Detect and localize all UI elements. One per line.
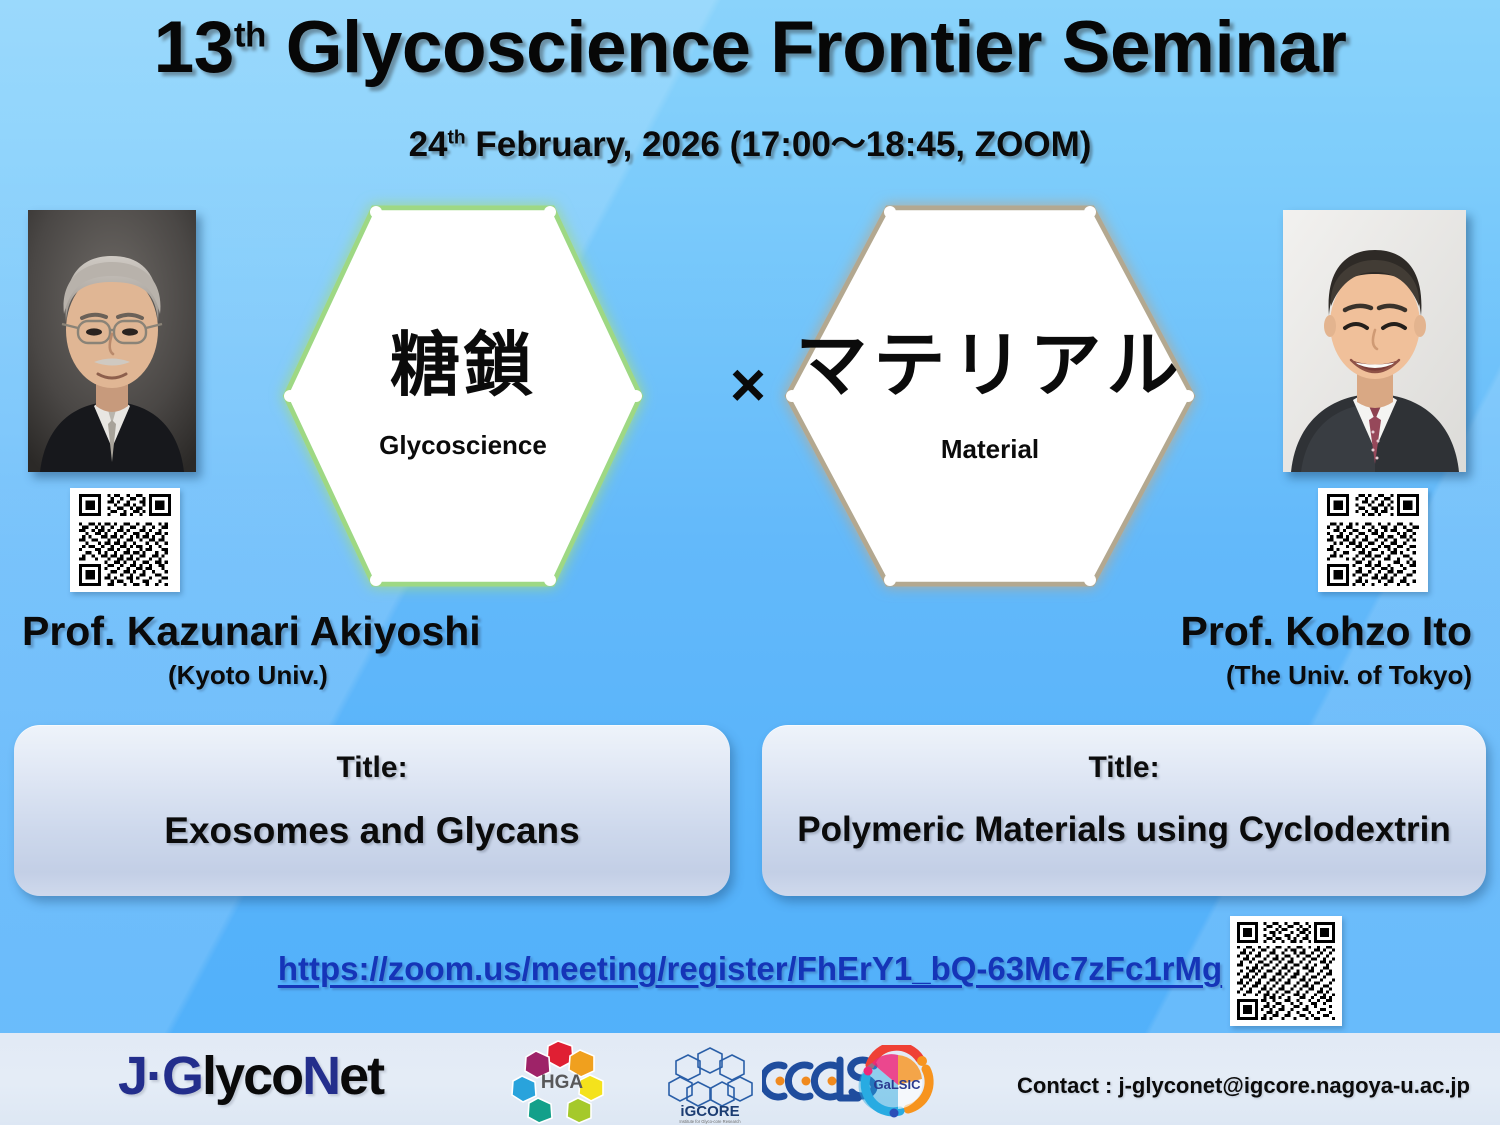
qr-code-speaker-akiyoshi[interactable]	[70, 488, 180, 592]
speaker-name-right: Prof. Kohzo Ito	[1180, 608, 1472, 655]
talk-title-box-left: Title: Exosomes and Glycans	[14, 725, 730, 896]
speaker-affiliation-left: (Kyoto Univ.)	[168, 660, 328, 691]
date-details: February, 2026 (17:00〜18:45, ZOOM)	[466, 125, 1092, 164]
igcore-logo: iGCORE Institute for Glyco-core Research	[660, 1044, 760, 1124]
speaker-photo-ito	[1283, 210, 1466, 472]
seminar-poster: 13th Glycoscience Frontier Seminar 24th …	[0, 0, 1500, 1125]
hga-logo: HGA	[510, 1038, 620, 1124]
talk-title-box-right: Title: Polymeric Materials using Cyclode…	[762, 725, 1486, 896]
title-main-text: Glycoscience Frontier Seminar	[266, 7, 1346, 88]
jglyconet-logo: J·GlycoNet	[118, 1045, 383, 1107]
contact-email: Contact : j-glyconet@igcore.nagoya-u.ac.…	[1017, 1073, 1470, 1099]
seminar-date-time: 24th February, 2026 (17:00〜18:45, ZOOM)	[0, 116, 1500, 167]
page-title: 13th Glycoscience Frontier Seminar	[0, 6, 1500, 89]
svg-text:iGCORE: iGCORE	[680, 1103, 739, 1120]
svg-text:Institute for Glyco-core Resea: Institute for Glyco-core Research	[679, 1119, 741, 1124]
title-number: 13	[154, 7, 234, 88]
hexagon-material: マテリアル Material	[790, 202, 1190, 590]
svg-text:HGA: HGA	[541, 1072, 584, 1093]
talk-title-label-left: Title:	[14, 751, 730, 785]
date-ordinal-suffix: th	[448, 127, 466, 148]
qr-code-zoom-registration[interactable]	[1230, 916, 1342, 1026]
date-day: 24	[409, 125, 448, 164]
speaker-affiliation-right: (The Univ. of Tokyo)	[1226, 660, 1472, 691]
title-ordinal-suffix: th	[234, 16, 266, 55]
svg-text:GaLSIC: GaLSIC	[874, 1077, 922, 1092]
talk-title-value-right: Polymeric Materials using Cyclodextrin	[762, 810, 1486, 850]
speaker-name-left: Prof. Kazunari Akiyoshi	[22, 608, 481, 655]
talk-title-value-left: Exosomes and Glycans	[14, 810, 730, 852]
qr-code-speaker-ito[interactable]	[1318, 488, 1428, 592]
multiplication-symbol: ×	[718, 357, 778, 417]
speaker-photo-akiyoshi	[28, 210, 196, 472]
galsic-logo: GaLSIC	[852, 1045, 942, 1119]
hexagon-glycoscience: 糖鎖 Glycoscience	[288, 202, 638, 590]
talk-title-label-right: Title:	[762, 751, 1486, 785]
